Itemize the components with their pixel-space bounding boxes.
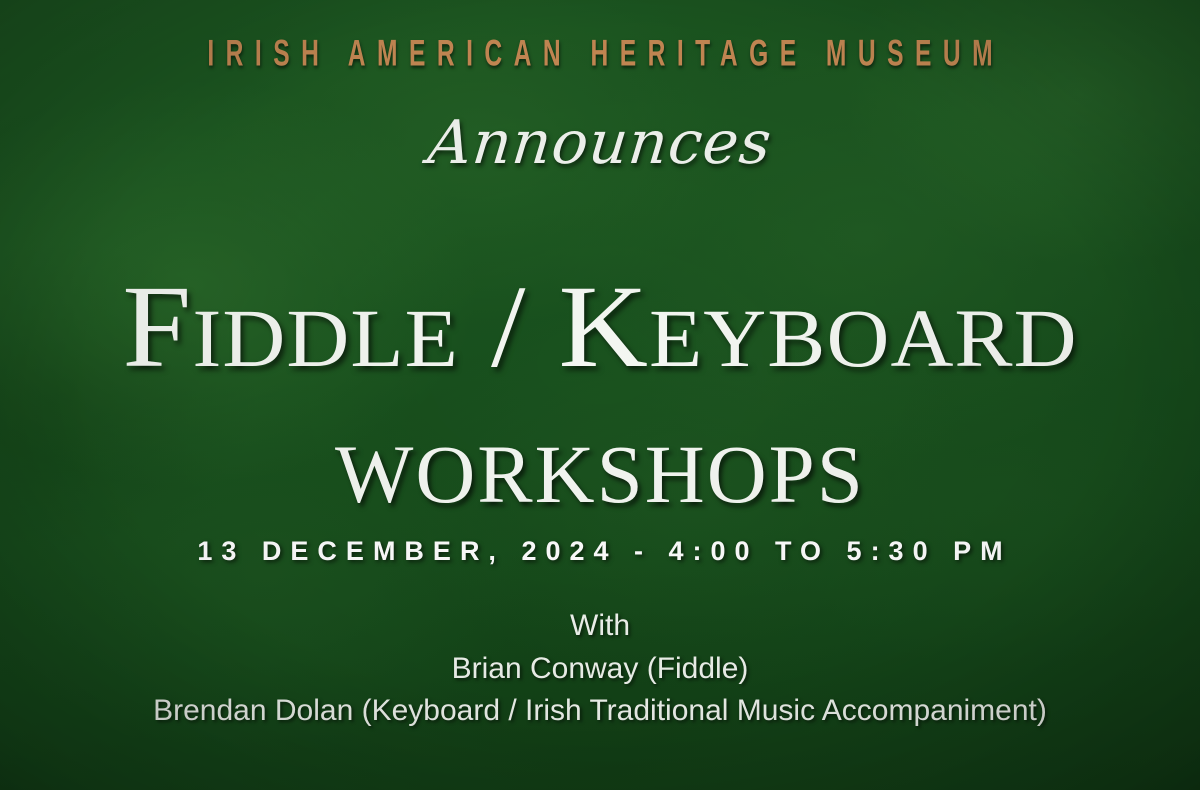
museum-name-header: IRISH AMERICAN HERITAGE MUSEUM <box>108 34 1092 75</box>
announces-script: Announces <box>0 108 1200 178</box>
event-poster: IRISH AMERICAN HERITAGE MUSEUM Announces… <box>0 0 1200 790</box>
credits-with-label: With <box>0 605 1200 648</box>
performer-credits: With Brian Conway (Fiddle) Brendan Dolan… <box>0 605 1200 733</box>
event-title-line-2: workshops <box>0 404 1200 522</box>
event-datetime: 13 DECEMBER, 2024 - 4:00 TO 5:30 PM <box>0 536 1200 567</box>
credits-performer-keyboard: Brendan Dolan (Keyboard / Irish Traditio… <box>0 690 1200 733</box>
credits-performer-fiddle: Brian Conway (Fiddle) <box>0 648 1200 691</box>
event-title-line-1: Fiddle / Keyboard <box>0 268 1200 386</box>
poster-content: IRISH AMERICAN HERITAGE MUSEUM Announces… <box>0 0 1200 790</box>
event-title-block: Fiddle / Keyboard workshops <box>0 268 1200 522</box>
